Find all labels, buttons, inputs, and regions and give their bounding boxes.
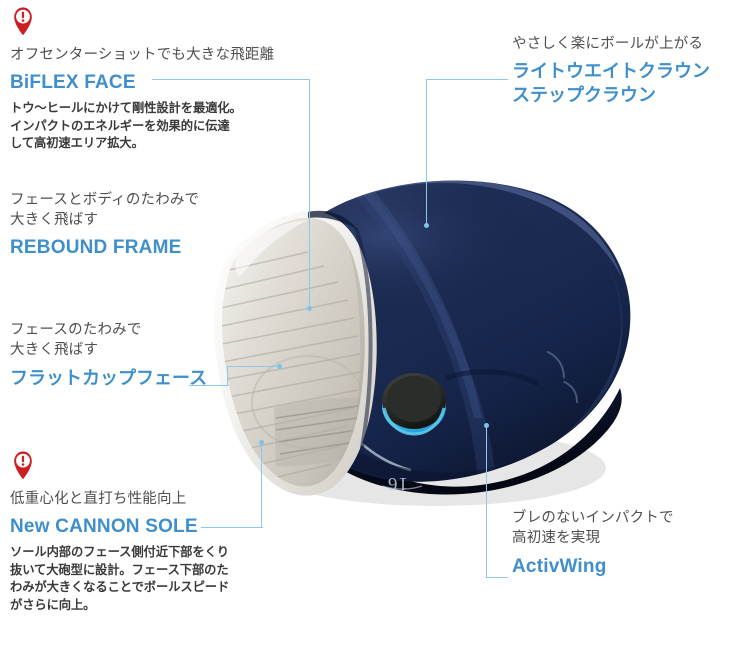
- callout-crown-kicker: やさしく楽にボールが上がる: [512, 34, 710, 54]
- callout-biflex-face: オフセンターショットでも大きな飛距離 BiFLEX FACE トウ〜ヒールにかけ…: [10, 4, 274, 153]
- callout-flat-cup-face: フェースのたわみで 大きく飛ばす フラットカップフェース: [10, 320, 207, 390]
- callout-crown-title-line-2: ステップクラウン: [512, 84, 710, 107]
- callout-crown-title-line-1: ライトウエイトクラウン: [512, 60, 710, 83]
- connector-crown-vertical: [426, 80, 427, 226]
- callout-activwing-kicker-line-2: 高初速を実現: [512, 528, 674, 548]
- connector-cannon-dot: [259, 440, 264, 445]
- warning-pin-icon: [10, 4, 36, 36]
- callout-biflex-body: トウ〜ヒールにかけて剛性設計を最適化。 インパクトのエネルギーを効果的に伝達 し…: [10, 100, 274, 153]
- connector-biflex-vertical: [309, 79, 310, 309]
- callout-activwing: ブレのないインパクトで 高初速を実現 ActivWing: [512, 508, 674, 578]
- connector-activwing-horizontal: [486, 577, 508, 578]
- callout-cannon-kicker: 低重心化と直打ち性能向上: [10, 489, 229, 509]
- callout-cannon-body: ソール内部のフェース側付近下部をくり 抜いて大砲型に設計。フェース下部のた わみ…: [10, 544, 229, 614]
- connector-biflex-dot: [307, 306, 312, 311]
- callout-new-cannon-sole: 低重心化と直打ち性能向上 New CANNON SOLE ソール内部のフェース側…: [10, 448, 229, 614]
- callout-biflex-body-line-2: インパクトのエネルギーを効果的に伝達: [10, 118, 274, 136]
- connector-cannon-vertical: [261, 442, 262, 528]
- callout-activwing-kicker-line-1: ブレのないインパクトで: [512, 508, 674, 528]
- warning-pin-icon: [10, 448, 36, 480]
- callout-flatcup-kicker-line-1: フェースのたわみで: [10, 320, 207, 340]
- connector-crown-horizontal: [426, 79, 508, 80]
- weight-port: [382, 373, 446, 434]
- callout-rebound-frame: フェースとボディのたわみで 大きく飛ばす REBOUND FRAME: [10, 190, 199, 259]
- infographic-canvas: 16 オフセンターショットでも大きな飛距離 BiFLEX FACE トウ: [0, 0, 730, 645]
- callout-biflex-kicker: オフセンターショットでも大きな飛距離: [10, 45, 274, 65]
- callout-cannon-body-line-3: わみが大きくなることでボールスピード: [10, 579, 229, 597]
- callout-lightweight-crown: やさしく楽にボールが上がる ライトウエイトクラウン ステップクラウン: [512, 34, 710, 107]
- callout-biflex-title: BiFLEX FACE: [10, 71, 274, 94]
- callout-rebound-kicker-line-2: 大きく飛ばす: [10, 210, 199, 230]
- callout-flatcup-kicker-line-2: 大きく飛ばす: [10, 340, 207, 360]
- callout-activwing-title: ActivWing: [512, 555, 674, 578]
- callout-cannon-body-line-2: 抜いて大砲型に設計。フェース下部のた: [10, 562, 229, 580]
- callout-rebound-kicker-line-1: フェースとボディのたわみで: [10, 190, 199, 210]
- connector-flatcup-vertical: [227, 366, 228, 386]
- callout-cannon-body-line-4: がさらに向上。: [10, 597, 229, 615]
- callout-rebound-title: REBOUND FRAME: [10, 236, 199, 259]
- callout-cannon-body-line-1: ソール内部のフェース側付近下部をくり: [10, 544, 229, 562]
- svg-text:16: 16: [387, 473, 408, 494]
- callout-biflex-body-line-1: トウ〜ヒールにかけて剛性設計を最適化。: [10, 100, 274, 118]
- connector-activwing-vertical: [486, 426, 487, 578]
- callout-biflex-body-line-3: して高初速エリア拡大。: [10, 135, 274, 153]
- callout-cannon-title: New CANNON SOLE: [10, 515, 229, 538]
- connector-flatcup-horizontal-2: [227, 366, 280, 367]
- loft-marking: 16: [387, 473, 408, 494]
- callout-flatcup-title: フラットカップフェース: [10, 367, 207, 390]
- connector-flatcup-dot: [277, 364, 282, 369]
